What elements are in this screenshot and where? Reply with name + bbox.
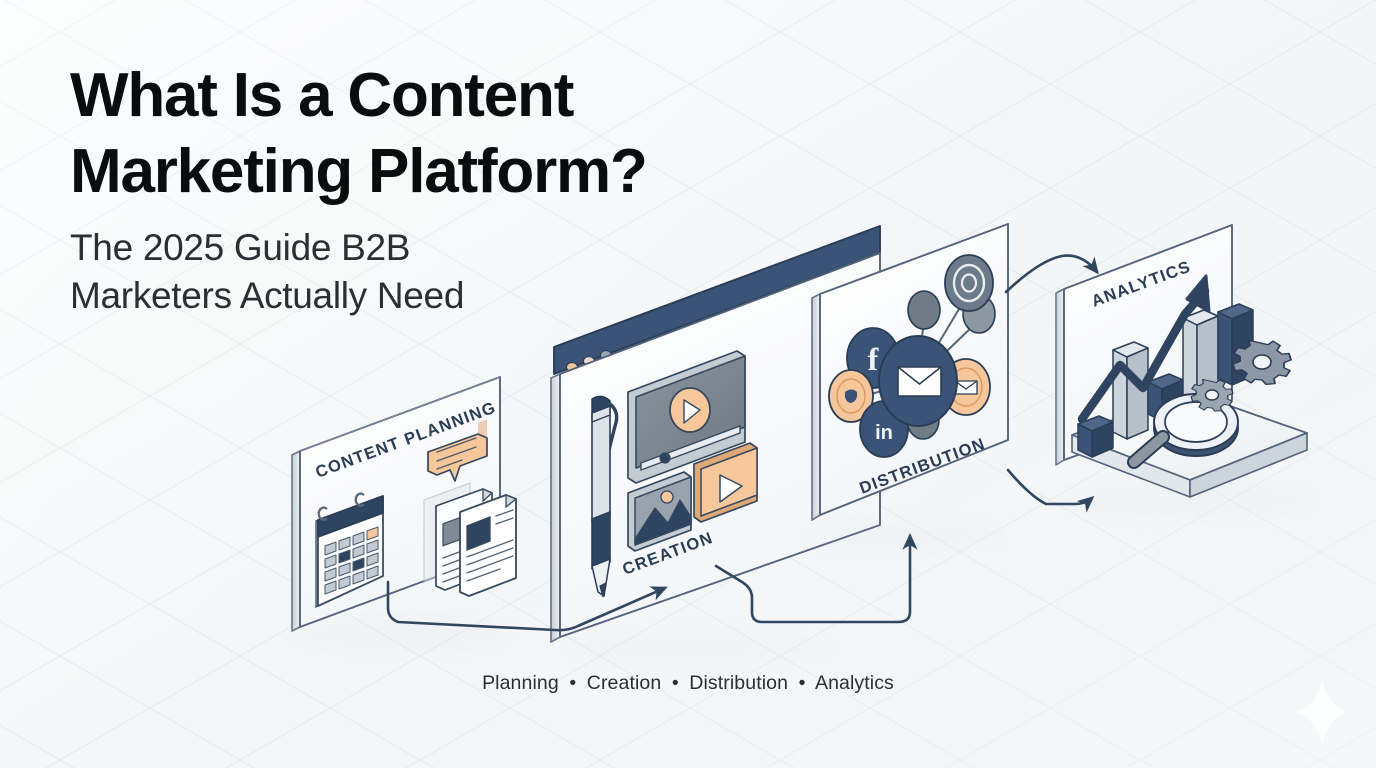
stage-caption: Planning • Creation • Distribution • Ana… xyxy=(0,672,1376,695)
hero-text-block: What Is a Content Marketing Platform? Th… xyxy=(70,58,770,320)
page-title: What Is a Content Marketing Platform? xyxy=(70,58,770,210)
svg-text:f: f xyxy=(868,341,879,377)
stage-card-planning[interactable]: CONTENT PLANNING xyxy=(290,377,516,653)
document-stack-icon xyxy=(424,483,516,596)
page-title-line-2: Marketing Platform? xyxy=(70,134,770,210)
caption-item-distribution: Distribution xyxy=(689,672,788,694)
page-title-line-1: What Is a Content xyxy=(70,61,573,130)
svg-text:in: in xyxy=(875,422,893,444)
page-subtitle-line-2: Marketers Actually Need xyxy=(70,272,770,320)
caption-item-creation: Creation xyxy=(587,672,662,694)
caption-item-analytics: Analytics xyxy=(815,672,894,694)
instagram-icon xyxy=(945,255,993,311)
hero-canvas: CONTENT PLANNING xyxy=(0,0,1376,768)
caption-separator: • xyxy=(794,672,811,694)
caption-separator: • xyxy=(564,672,581,694)
caption-item-planning: Planning xyxy=(482,672,559,694)
envelope-hub-icon[interactable] xyxy=(879,336,957,426)
caption-separator: • xyxy=(667,672,684,694)
page-subtitle: The 2025 Guide B2B Marketers Actually Ne… xyxy=(70,224,770,320)
page-subtitle-line-1: The 2025 Guide B2B xyxy=(70,227,410,268)
